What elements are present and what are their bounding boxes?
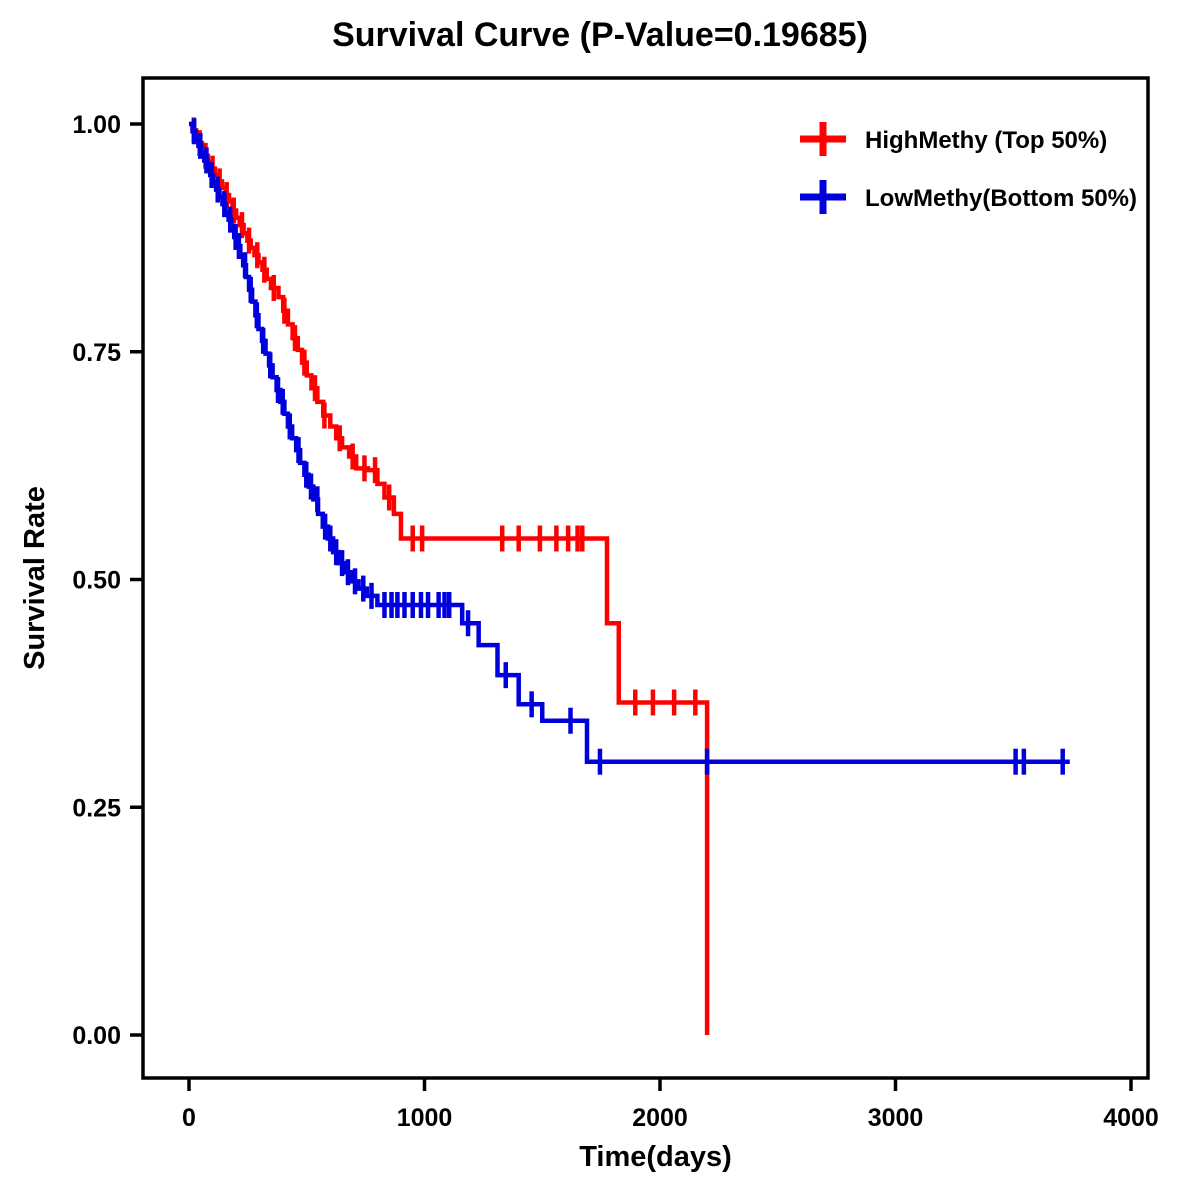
y-tick-label: 1.00 (72, 111, 121, 139)
y-tick-label: 0.50 (72, 567, 121, 595)
legend-label: HighMethy (Top 50%) (865, 127, 1107, 154)
x-tick-label: 4000 (1103, 1104, 1159, 1132)
plot-area: 010002000300040000.000.250.500.751.00Tim… (0, 0, 1200, 1200)
legend: HighMethy (Top 50%)LowMethy(Bottom 50%) (800, 122, 1137, 214)
y-tick-label: 0.00 (72, 1022, 121, 1050)
survival-step-line (189, 124, 1070, 762)
y-tick-label: 0.25 (72, 794, 121, 822)
y-tick-label: 0.75 (72, 339, 121, 367)
survival-plot-svg: 010002000300040000.000.250.500.751.00Tim… (0, 0, 1200, 1200)
x-tick-label: 2000 (632, 1104, 688, 1132)
survival-step-line (189, 124, 707, 1035)
plot-border (143, 78, 1148, 1078)
x-tick-label: 1000 (397, 1104, 453, 1132)
legend-label: LowMethy(Bottom 50%) (865, 185, 1137, 212)
series-high-methy (189, 117, 707, 1035)
y-axis-title: Survival Rate (19, 486, 51, 670)
x-tick-label: 3000 (868, 1104, 924, 1132)
chart-root: Survival Curve (P-Value=0.19685) 0100020… (0, 0, 1200, 1200)
series-low-methy (189, 118, 1070, 774)
x-tick-label: 0 (182, 1104, 196, 1132)
x-axis-title: Time(days) (579, 1141, 732, 1173)
